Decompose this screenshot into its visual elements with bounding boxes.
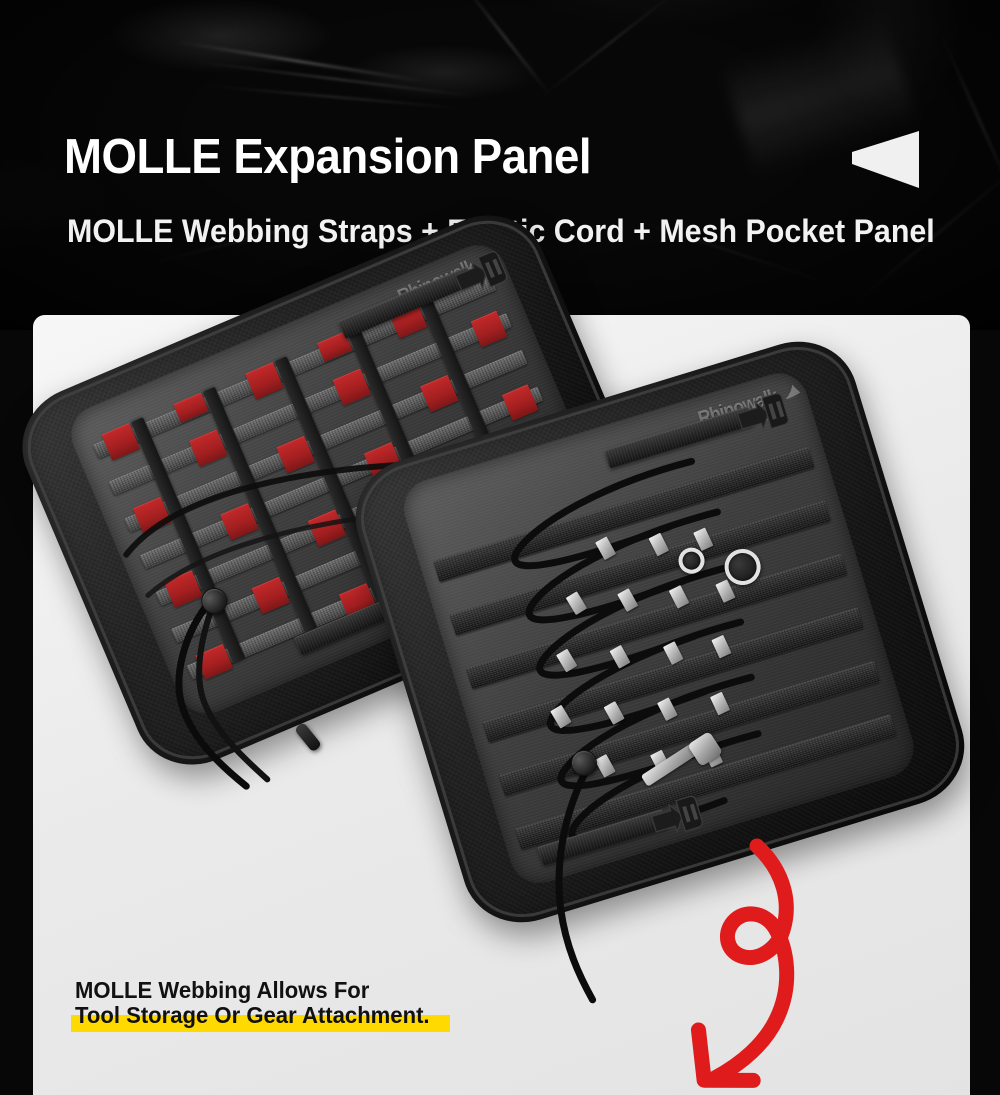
curved-looping-down-left-arrow-icon — [645, 838, 875, 1095]
left-triangle-marker-icon — [852, 131, 919, 188]
caption-line-2: Tool Storage Or Gear Attachment. — [75, 1003, 430, 1027]
buckle-clip-icon — [728, 388, 793, 443]
page-title: MOLLE Expansion Panel — [64, 133, 591, 182]
product-marketing-image: MOLLE Expansion Panel MOLLE Webbing Stra… — [0, 0, 1000, 1095]
caption-line-2-wrapper: Tool Storage Or Gear Attachment. — [75, 1003, 444, 1027]
feature-caption: MOLLE Webbing Allows For Tool Storage Or… — [75, 978, 444, 1028]
caption-line-1: MOLLE Webbing Allows For — [75, 978, 430, 1002]
